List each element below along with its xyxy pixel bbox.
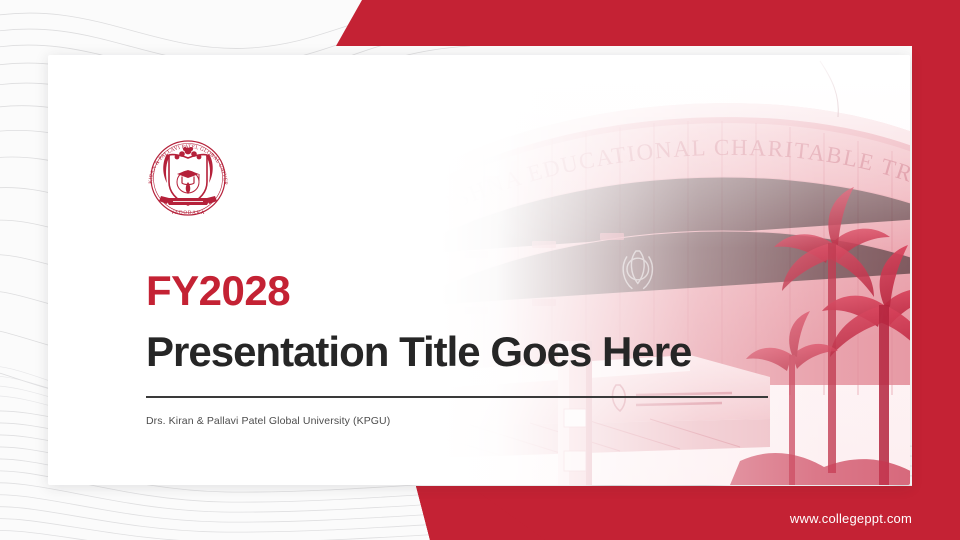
- title-divider: [146, 396, 768, 398]
- footer-website-url[interactable]: www.collegeppt.com: [790, 511, 912, 526]
- fiscal-year-heading: FY2028: [146, 270, 786, 312]
- content-card: KRISHNA EDUCATIONAL CHARITABLE TRUST: [48, 55, 910, 485]
- university-subtitle: Drs. Kiran & Pallavi Patel Global Univer…: [146, 415, 786, 427]
- university-crest-logo: DRS. KIRAN & PALLAVI PATEL GLOBAL UNIVER…: [143, 138, 233, 218]
- right-red-column: [912, 0, 960, 540]
- top-red-band: [336, 0, 960, 46]
- presentation-slide: KRISHNA EDUCATIONAL CHARITABLE TRUST: [0, 0, 960, 540]
- logo-base-text: VADODARA: [171, 211, 205, 216]
- title-text-block: FY2028 Presentation Title Goes Here Drs.…: [146, 270, 786, 427]
- logo-shield: [169, 155, 207, 205]
- page-title: Presentation Title Goes Here: [146, 330, 786, 374]
